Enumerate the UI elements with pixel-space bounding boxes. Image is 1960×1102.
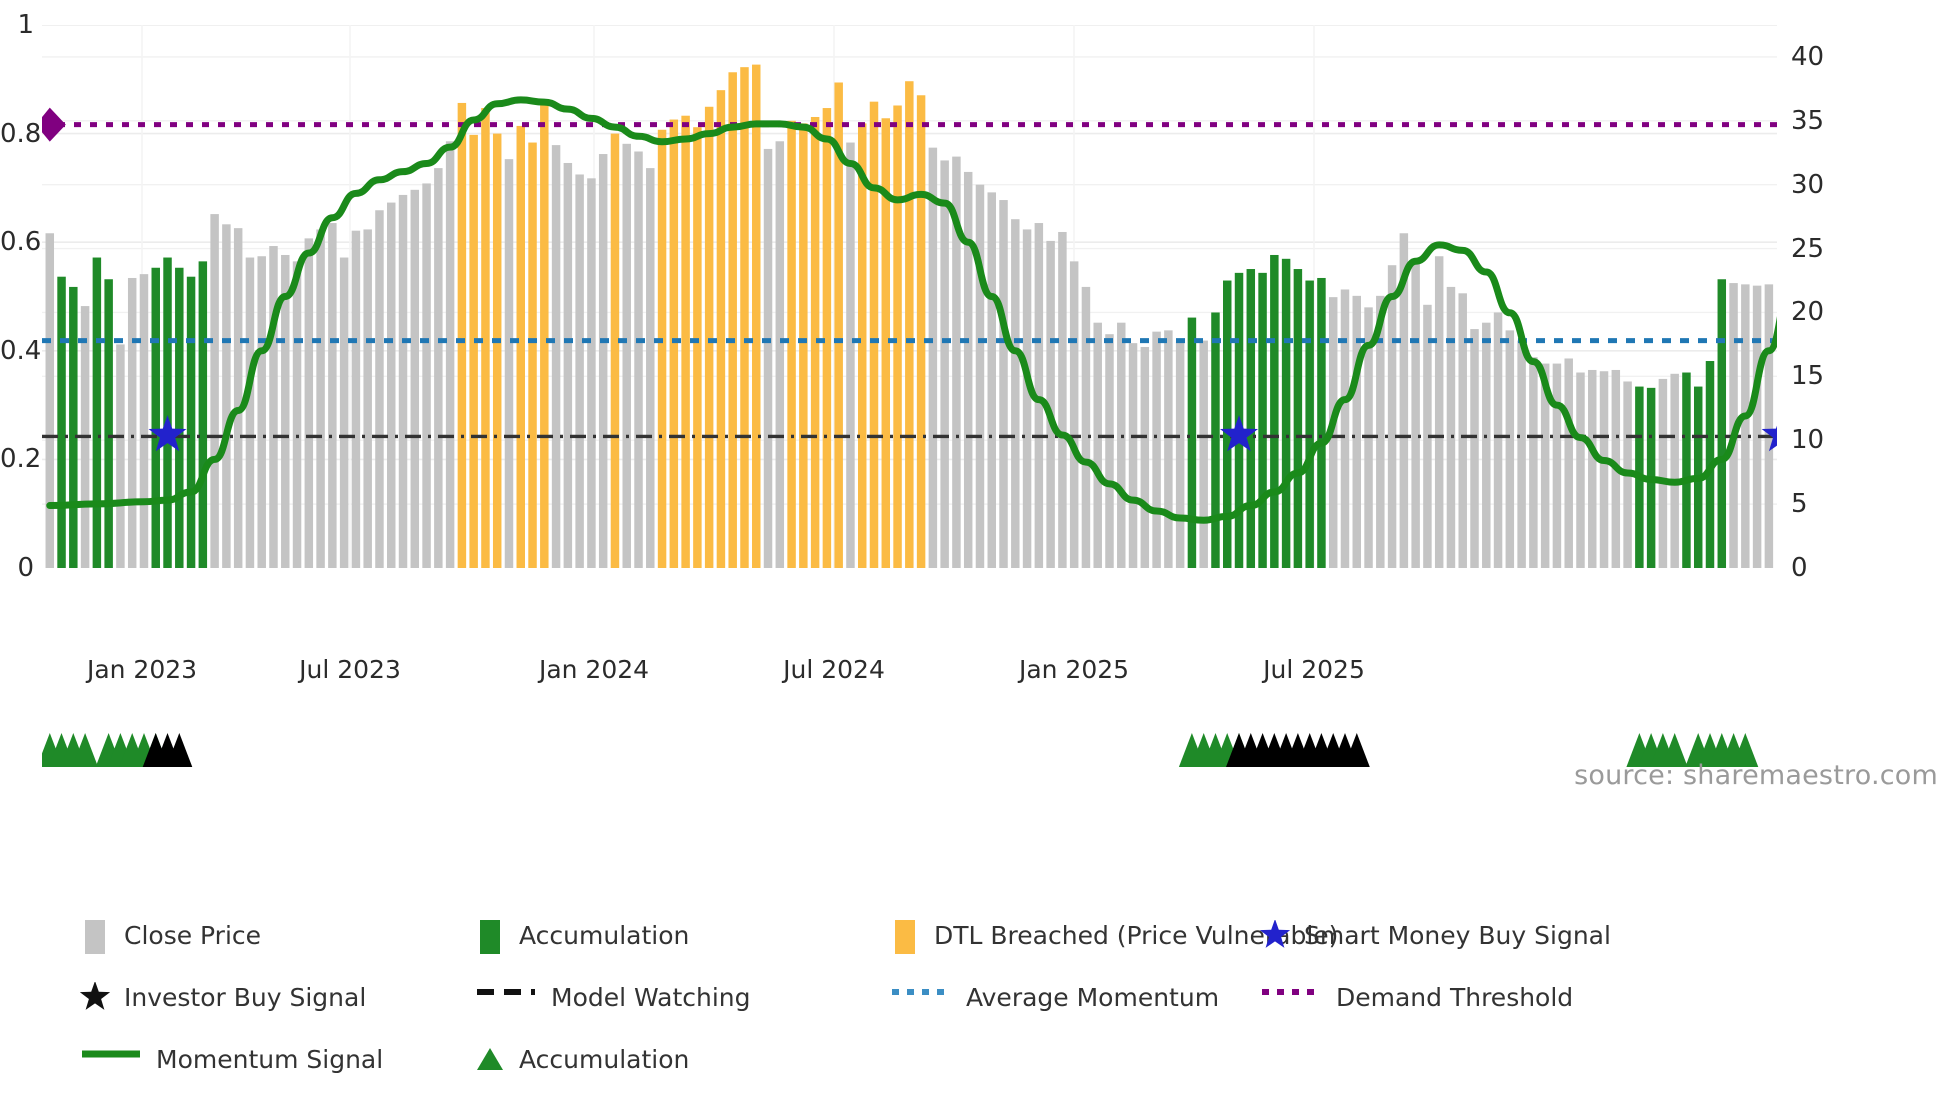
price-bar — [1458, 293, 1466, 568]
price-bar — [988, 192, 996, 568]
price-bar — [57, 277, 65, 568]
price-bar — [152, 268, 160, 568]
price-bar — [764, 149, 772, 568]
price-bar — [305, 238, 313, 568]
price-bar — [328, 223, 336, 568]
y-left-tick: 0.2 — [0, 446, 34, 472]
legend-item-close-price[interactable]: Close Price — [80, 920, 261, 950]
legend-swatch-square — [80, 920, 110, 950]
price-bar — [234, 228, 242, 568]
price-bar — [269, 246, 277, 568]
price-bar — [1411, 259, 1419, 568]
price-bar — [1470, 329, 1478, 568]
price-bar — [1188, 318, 1196, 568]
price-bar — [693, 127, 701, 568]
price-bar — [1600, 371, 1608, 568]
price-bar — [611, 134, 619, 568]
x-axis-tick: Jan 2025 — [1019, 655, 1129, 684]
price-bar — [622, 144, 630, 568]
price-bar — [1718, 279, 1726, 568]
price-bar — [917, 95, 925, 568]
demand-threshold-marker — [42, 108, 66, 142]
legend-swatch-square — [475, 920, 505, 950]
price-bar — [1258, 273, 1266, 568]
price-bar — [976, 185, 984, 568]
price-bar — [257, 256, 265, 568]
legend-label: Momentum Signal — [156, 1045, 383, 1074]
price-bar — [1659, 379, 1667, 568]
price-bar — [540, 105, 548, 568]
price-bar — [799, 123, 807, 568]
price-bar — [787, 121, 795, 568]
price-bar — [1341, 289, 1349, 568]
price-bar — [411, 190, 419, 568]
price-bar — [1176, 342, 1184, 568]
legend-label: Accumulation — [519, 921, 689, 950]
price-bar — [1164, 330, 1172, 568]
price-bar — [658, 130, 666, 568]
price-bar — [458, 103, 466, 568]
price-bar — [1199, 341, 1207, 568]
price-bar — [1353, 296, 1361, 568]
x-axis-tick: Jan 2023 — [87, 655, 197, 684]
price-bar — [1753, 286, 1761, 568]
price-bar — [222, 224, 230, 568]
price-bar — [1211, 312, 1219, 568]
price-bar — [776, 141, 784, 568]
legend-row: Momentum SignalAccumulation — [80, 982, 1950, 1013]
y-left-tick: 0.4 — [0, 338, 34, 364]
price-bar — [1588, 370, 1596, 568]
price-bar — [387, 203, 395, 568]
price-bar — [940, 160, 948, 568]
price-bar — [1576, 373, 1584, 568]
price-bar — [505, 159, 513, 568]
price-bar — [752, 65, 760, 568]
price-bar — [1305, 281, 1313, 568]
price-bar — [1223, 281, 1231, 568]
x-axis-tick: Jan 2024 — [539, 655, 649, 684]
legend-item-accumulation[interactable]: Accumulation — [475, 920, 689, 950]
price-bar — [246, 258, 254, 568]
price-bar — [858, 123, 866, 568]
price-bar — [128, 278, 136, 568]
legend-item-accumulation[interactable]: Accumulation — [475, 1044, 689, 1074]
price-bar — [481, 108, 489, 568]
price-bar — [93, 258, 101, 568]
x-axis-tick: Jul 2024 — [783, 655, 885, 684]
price-bar — [316, 229, 324, 568]
y-left-tick: 0.6 — [0, 229, 34, 255]
price-bar — [210, 214, 218, 568]
price-bar — [929, 148, 937, 568]
price-bar — [1447, 287, 1455, 568]
price-bar — [1553, 364, 1561, 568]
price-bar — [634, 151, 642, 568]
price-bar — [717, 90, 725, 568]
price-bar — [552, 145, 560, 568]
price-bar — [1317, 278, 1325, 568]
price-bar — [670, 120, 678, 568]
price-bar — [1435, 256, 1443, 568]
price-bar — [69, 287, 77, 568]
price-bar — [1152, 332, 1160, 568]
price-bar — [140, 274, 148, 568]
price-bar — [517, 126, 525, 568]
price-bar — [740, 67, 748, 568]
price-bar — [599, 154, 607, 568]
price-bar — [446, 141, 454, 568]
price-bar — [575, 174, 583, 568]
price-bar — [116, 344, 124, 568]
price-bar — [175, 268, 183, 568]
price-bar — [1093, 323, 1101, 568]
chart-page: 00.20.40.60.81 0510152025303540 Jan 2023… — [0, 0, 1960, 1102]
price-bar — [340, 258, 348, 568]
y-right-tick: 35 — [1791, 108, 1824, 134]
price-bar — [493, 134, 501, 568]
legend-line-solid — [80, 1044, 142, 1074]
y-right-tick: 15 — [1791, 363, 1824, 389]
price-bar — [469, 135, 477, 568]
y-right-tick: 30 — [1791, 172, 1824, 198]
price-bar — [1282, 259, 1290, 568]
price-bar — [199, 261, 207, 568]
price-bar — [1529, 357, 1537, 568]
price-bar — [705, 107, 713, 568]
price-bar — [1741, 284, 1749, 568]
price-bar — [1270, 255, 1278, 568]
legend-row: Investor Buy SignalModel WatchingAverage… — [80, 951, 1950, 982]
y-right-tick: 20 — [1791, 299, 1824, 325]
price-bar — [681, 116, 689, 568]
price-bar — [587, 178, 595, 568]
price-bar — [882, 118, 890, 568]
x-axis-tick: Jul 2025 — [1263, 655, 1365, 684]
price-bar — [964, 172, 972, 568]
chart-legend: Close PriceAccumulationDTL Breached (Pri… — [80, 920, 1950, 1013]
chart-plot-area — [42, 25, 1777, 568]
price-bar — [1506, 330, 1514, 568]
y-right-tick: 25 — [1791, 236, 1824, 262]
price-bar — [1564, 358, 1572, 568]
price-bar — [646, 168, 654, 568]
price-bar — [163, 258, 171, 568]
source-watermark: source: sharemaestro.com — [1574, 760, 1938, 791]
price-bar — [1517, 341, 1525, 568]
x-axis-tick: Jul 2023 — [299, 655, 401, 684]
price-bar — [999, 200, 1007, 568]
price-bar — [528, 143, 536, 568]
price-bar — [1765, 284, 1773, 568]
legend-triangle-icon — [475, 1044, 505, 1074]
price-bar — [1388, 265, 1396, 568]
legend-label: Smart Money Buy Signal — [1304, 921, 1611, 950]
price-bar — [1011, 219, 1019, 568]
price-bar — [1023, 229, 1031, 568]
price-bar — [1482, 323, 1490, 568]
price-bar — [1129, 343, 1137, 568]
y-left-tick: 0.8 — [0, 121, 34, 147]
price-bar — [1294, 269, 1302, 568]
price-bar — [1494, 312, 1502, 568]
price-bar — [434, 168, 442, 568]
price-bar — [293, 261, 301, 568]
price-bar — [352, 231, 360, 568]
legend-swatch-square — [890, 920, 920, 950]
y-right-tick: 5 — [1791, 491, 1808, 517]
legend-item-momentum-signal[interactable]: Momentum Signal — [80, 1044, 383, 1074]
legend-star-icon — [1260, 920, 1290, 950]
price-bar — [1082, 287, 1090, 568]
price-bar — [399, 195, 407, 568]
price-bar — [823, 108, 831, 568]
price-bar — [422, 183, 430, 568]
price-bar — [846, 143, 854, 568]
legend-label: Accumulation — [519, 1045, 689, 1074]
y-right-tick: 0 — [1791, 555, 1808, 581]
legend-label: Close Price — [124, 921, 261, 950]
price-bar — [187, 277, 195, 568]
price-bar — [1117, 323, 1125, 568]
price-bar — [1141, 347, 1149, 568]
legend-item-smart-money-buy-signal[interactable]: Smart Money Buy Signal — [1260, 920, 1611, 950]
y-left-tick: 1 — [0, 12, 34, 38]
price-bar — [1247, 269, 1255, 568]
y-right-tick: 40 — [1791, 44, 1824, 70]
legend-row: Close PriceAccumulationDTL Breached (Pri… — [80, 920, 1950, 951]
price-bar — [1670, 374, 1678, 568]
price-bar — [46, 233, 54, 568]
price-bar — [104, 279, 112, 568]
price-bar — [893, 105, 901, 568]
price-bar — [1105, 334, 1113, 568]
price-bar — [1070, 261, 1078, 568]
price-bar — [905, 81, 913, 568]
price-bar — [363, 229, 371, 568]
y-left-tick: 0 — [0, 555, 34, 581]
price-bar — [1058, 232, 1066, 568]
price-bar — [728, 72, 736, 568]
price-bar — [564, 163, 572, 568]
y-right-tick: 10 — [1791, 427, 1824, 453]
price-bar — [1682, 373, 1690, 568]
price-bar — [375, 210, 383, 568]
price-bar — [870, 102, 878, 568]
accumulation-marker-strip — [42, 725, 1777, 775]
